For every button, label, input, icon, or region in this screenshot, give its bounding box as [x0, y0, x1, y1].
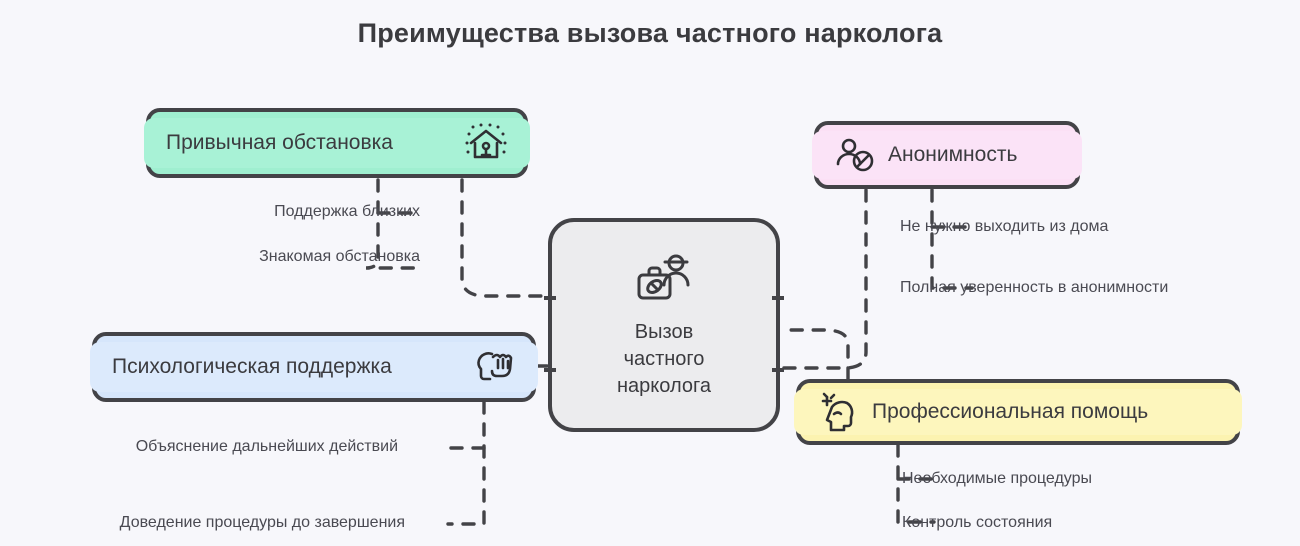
leaf-prof-2: Контроль состояния — [902, 514, 1052, 532]
edge-psych-leaves — [448, 402, 484, 524]
leaf-psych-1: Объяснение дальнейших действий — [30, 438, 398, 456]
center-port-right-bottom — [772, 368, 784, 372]
leaf-psych-2: Доведение процедуры до завершения — [30, 514, 405, 532]
leaf-anonymity-2: Полная уверенность в анонимности — [900, 279, 1168, 297]
edge-anonymity-leaves — [932, 190, 972, 288]
edge-prof-center — [782, 330, 848, 379]
center-node-label: Вызов частного нарколога — [617, 319, 711, 400]
branch-label-prof: Профессиональная помощь — [872, 400, 1148, 424]
branch-node-anonymity[interactable]: Анонимность — [814, 121, 1080, 189]
edge-anonymity-center — [782, 190, 866, 368]
branch-label-habitual: Привычная обстановка — [166, 131, 393, 155]
anonymous-person-icon — [834, 136, 876, 174]
mindmap-canvas: Преимущества вызова частного нарколога — [0, 0, 1300, 546]
leaf-habitual-2: Знакомая обстановка — [90, 248, 420, 266]
head-medical-cross-icon — [816, 392, 860, 432]
center-port-left-top — [544, 296, 556, 300]
edge-habitual-center — [462, 180, 548, 296]
branch-node-prof[interactable]: Профессиональная помощь — [796, 379, 1240, 445]
page-title: Преимущества вызова частного нарколога — [0, 18, 1300, 49]
branch-label-psych: Психологическая поддержка — [112, 355, 392, 379]
branch-node-habitual[interactable]: Привычная обстановка — [146, 108, 528, 178]
head-support-hand-icon — [472, 347, 516, 387]
doctor-medical-bag-icon — [631, 251, 697, 309]
leaf-habitual-1: Поддержка близких — [90, 203, 420, 221]
center-port-right-top — [772, 296, 784, 300]
branch-label-anonymity: Анонимность — [888, 143, 1017, 167]
center-node[interactable]: Вызов частного нарколога — [548, 218, 780, 432]
leaf-prof-1: Необходимые процедуры — [902, 470, 1092, 488]
center-port-left-bottom — [544, 368, 556, 372]
house-with-person-icon — [464, 122, 508, 164]
leaf-anonymity-1: Не нужно выходить из дома — [900, 218, 1108, 236]
branch-node-psych[interactable]: Психологическая поддержка — [92, 332, 536, 402]
